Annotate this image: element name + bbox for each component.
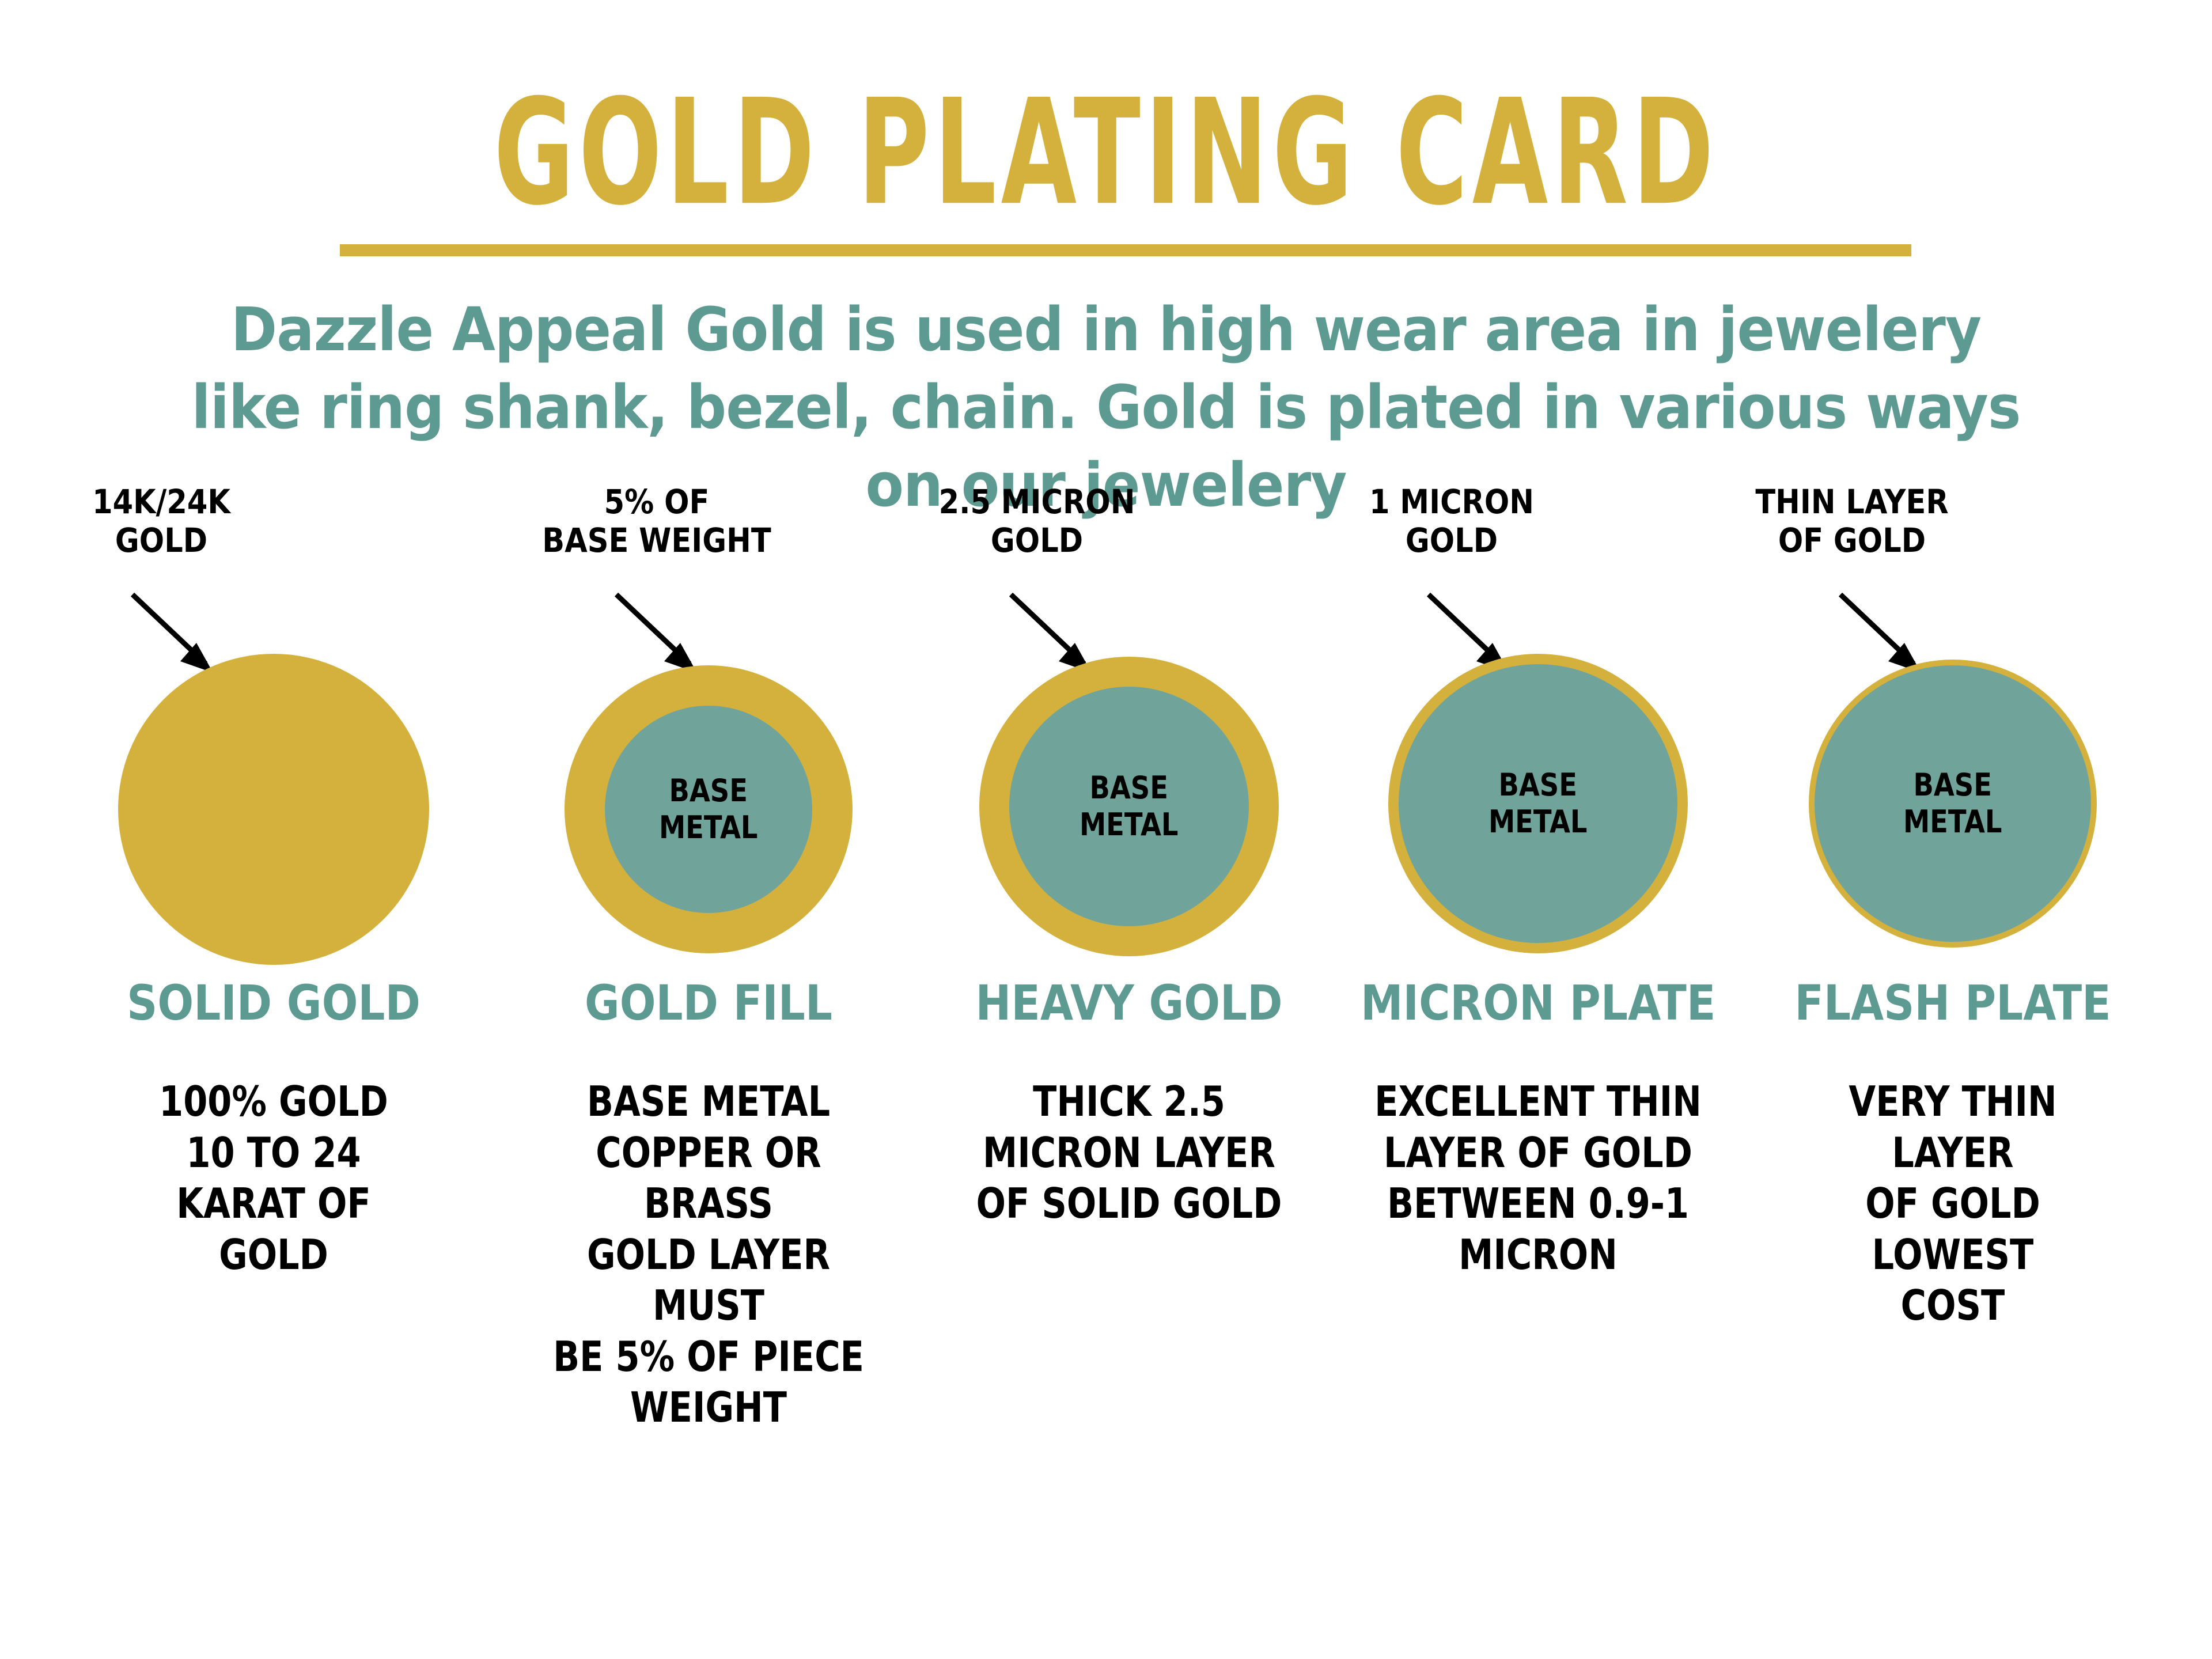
description-solid-gold: 100% GOLD 10 TO 24 KARAT OF GOLD [104,1076,443,1280]
category-label-gold-fill: GOLD FILL [531,975,886,1031]
base-metal-label: BASE METAL [1903,767,2002,840]
callout-label-gold-fill: 5% OF BASE WEIGHT [479,483,834,560]
diagram-heavy-gold: BASE METAL [927,654,1331,976]
column-flash-plate: THIN LAYER OF GOLD BASE METAL FLASH PLAT… [1751,0,2154,1659]
description-heavy-gold: THICK 2.5 MICRON LAYER OF SOLID GOLD [960,1076,1298,1229]
base-metal-core: BASE METAL [1009,687,1249,926]
base-metal-core: BASE METAL [1399,664,1677,943]
callout-label-micron-plate: 1 MICRON GOLD [1274,483,1629,560]
description-flash-plate: VERY THIN LAYER OF GOLD LOWEST COST [1783,1076,2122,1331]
gold-layer-circle [118,654,429,965]
column-solid-gold: 14K/24K GOLD SOLID GOLD 100% GOLD 10 TO … [72,0,475,1659]
diagram-gold-fill: BASE METAL [507,654,910,976]
base-metal-label: BASE METAL [1080,770,1179,843]
base-metal-core: BASE METAL [605,706,812,913]
callout-label-heavy-gold: 2.5 MICRON GOLD [859,483,1214,560]
callout-label-solid-gold: 14K/24K GOLD [0,483,339,560]
callout-label-flash-plate: THIN LAYER OF GOLD [1675,483,2029,560]
category-label-solid-gold: SOLID GOLD [96,975,451,1031]
description-micron-plate: EXCELLENT THIN LAYER OF GOLD BETWEEN 0.9… [1369,1076,1707,1280]
category-label-micron-plate: MICRON PLATE [1361,975,1715,1031]
base-metal-core: BASE METAL [1815,665,2091,942]
description-gold-fill: BASE METAL COPPER OR BRASS GOLD LAYER MU… [539,1076,878,1433]
column-micron-plate: 1 MICRON GOLD BASE METAL MICRON PLATE EX… [1336,0,1740,1659]
column-gold-fill: 5% OF BASE WEIGHT BASE METAL GOLD FILL B… [507,0,910,1659]
diagram-solid-gold [72,654,475,976]
base-metal-label: BASE METAL [659,772,758,846]
diagram-flash-plate: BASE METAL [1751,654,2154,976]
category-label-flash-plate: FLASH PLATE [1775,975,2130,1031]
category-label-heavy-gold: HEAVY GOLD [952,975,1306,1031]
base-metal-label: BASE METAL [1488,767,1588,840]
diagram-micron-plate: BASE METAL [1336,654,1740,976]
column-heavy-gold: 2.5 MICRON GOLD BASE METAL HEAVY GOLD TH… [927,0,1331,1659]
